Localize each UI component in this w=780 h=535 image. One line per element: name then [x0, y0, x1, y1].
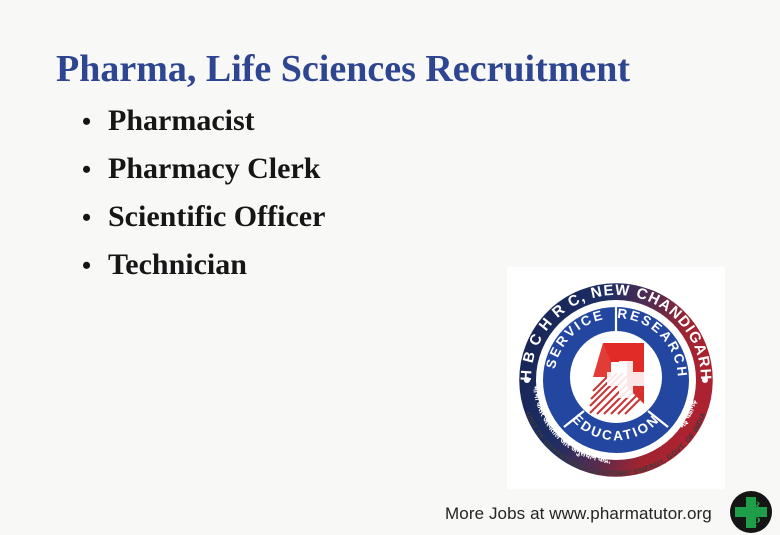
list-item: • Pharmacist	[82, 104, 325, 152]
bullet-dot-icon: •	[82, 253, 108, 279]
badge-letter-p: P	[753, 514, 761, 529]
bullet-dot-icon: •	[82, 109, 108, 135]
logo-ring-dot-right	[702, 377, 708, 383]
list-item-label: Technician	[108, 248, 247, 282]
bullet-dot-icon: •	[82, 205, 108, 231]
footer-text: More Jobs at www.pharmatutor.org	[445, 504, 712, 524]
pharmatutor-logo-icon: R P	[729, 490, 773, 534]
list-item: • Pharmacy Clerk	[82, 152, 325, 200]
badge-letter-r: R	[752, 498, 761, 512]
list-item: • Technician	[82, 248, 325, 296]
list-item-label: Scientific Officer	[108, 200, 325, 234]
hospital-logo-container: H B C H R C, NEW CHANDIGARH UNIT OF DEPA…	[507, 267, 725, 489]
bullet-dot-icon: •	[82, 157, 108, 183]
list-item-label: Pharmacy Clerk	[108, 152, 320, 186]
list-item-label: Pharmacist	[108, 104, 255, 138]
list-item: • Scientific Officer	[82, 200, 325, 248]
page-title: Pharma, Life Sciences Recruitment	[56, 47, 630, 91]
job-roles-list: • Pharmacist • Pharmacy Clerk • Scientif…	[82, 104, 325, 296]
logo-ring-dot-left	[524, 377, 530, 383]
slide-canvas: Pharma, Life Sciences Recruitment • Phar…	[0, 0, 780, 535]
hbchrc-logo-icon: H B C H R C, NEW CHANDIGARH UNIT OF DEPA…	[507, 267, 725, 489]
